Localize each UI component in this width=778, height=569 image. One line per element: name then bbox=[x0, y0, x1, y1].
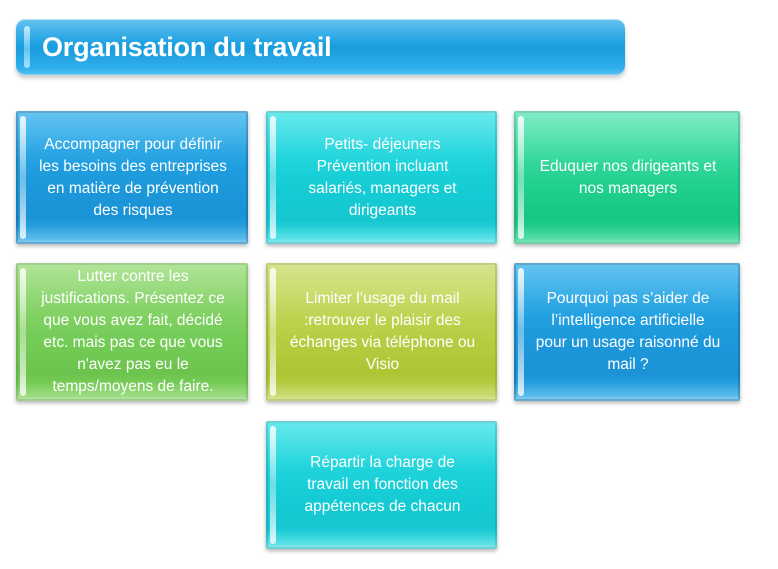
page-title: Organisation du travail bbox=[42, 19, 611, 75]
card-bottom-gloss bbox=[266, 531, 497, 549]
card-bottom-gloss bbox=[266, 225, 497, 244]
card-lutter[interactable]: Lutter contre les justifications. Présen… bbox=[16, 263, 248, 401]
card-eduquer[interactable]: Eduquer nos dirigeants et nos managers bbox=[514, 111, 740, 244]
slide-canvas: Organisation du travail Accompagner pour… bbox=[0, 0, 778, 569]
slide-title-banner: Organisation du travail bbox=[16, 19, 625, 75]
card-bottom-gloss bbox=[514, 382, 740, 401]
card-petits-dejeuners[interactable]: Petits- déjeuners Prévention incluant sa… bbox=[266, 111, 497, 244]
title-left-accent-bar bbox=[24, 26, 30, 68]
card-bottom-gloss bbox=[266, 382, 497, 401]
card-text: Accompagner pour définir les besoins des… bbox=[16, 130, 248, 226]
card-limiter-mail[interactable]: Limiter l’usage du mail :retrouver le pl… bbox=[266, 263, 497, 401]
card-intelligence-artificielle[interactable]: Pourquoi pas s’aider de l’intelligence a… bbox=[514, 263, 740, 401]
card-text: Lutter contre les justifications. Présen… bbox=[16, 263, 248, 401]
card-bottom-gloss bbox=[16, 225, 248, 244]
card-text: Petits- déjeuners Prévention incluant sa… bbox=[266, 130, 497, 226]
card-text: Répartir la charge de travail en fonctio… bbox=[266, 448, 497, 522]
card-accompagner[interactable]: Accompagner pour définir les besoins des… bbox=[16, 111, 248, 244]
card-text: Eduquer nos dirigeants et nos managers bbox=[514, 152, 740, 204]
card-bottom-gloss bbox=[514, 225, 740, 244]
card-text: Pourquoi pas s’aider de l’intelligence a… bbox=[514, 284, 740, 380]
card-text: Limiter l’usage du mail :retrouver le pl… bbox=[266, 284, 497, 380]
card-repartir-charge[interactable]: Répartir la charge de travail en fonctio… bbox=[266, 421, 497, 549]
